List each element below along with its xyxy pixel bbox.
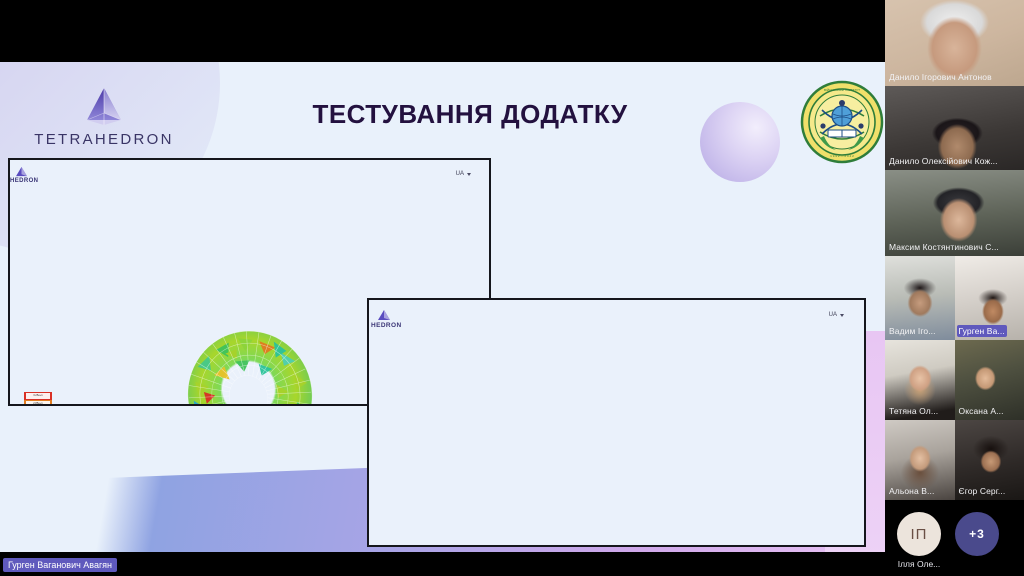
active-speaker-banner: Гурген Ваганович Авагян <box>3 558 117 572</box>
participant-row-avatars: ІП Ілля Оле... +3 <box>885 500 1024 569</box>
participant-tile-9[interactable]: ІП Ілля Оле... <box>897 512 941 569</box>
participant-name: Ілля Оле... <box>898 559 941 569</box>
app-screenshot-window-2: HEDRON UA 3.12e+12.73e+12.34e+11.95e+11.… <box>367 298 866 547</box>
participant-name: Оксана А... <box>957 405 1006 417</box>
participant-name: Тетяна Ол... <box>887 405 940 417</box>
participant-name: Данило Олексійович Кож... <box>887 155 1000 167</box>
participant-tile-0[interactable]: Данило Ігорович Антонов <box>885 0 1024 86</box>
tetrahedron-logo-icon <box>377 310 391 321</box>
overflow-badge: +3 <box>955 512 999 556</box>
participant-row-half-1: Вадим Іго... Гурген Ва... <box>885 256 1024 340</box>
participant-name: Альона В... <box>887 485 936 497</box>
slide-letterbox-top <box>0 31 885 62</box>
shared-slide: TETRAHEDRON ТЕСТУВАННЯ ДОДАТКУ <box>0 31 885 552</box>
meeting-screen: TETRAHEDRON ТЕСТУВАННЯ ДОДАТКУ <box>0 0 1024 576</box>
participant-row-half-2: Тетяна Ол... Оксана А... <box>885 340 1024 420</box>
page-title: ТЕСТУВАННЯ ДОДАТКУ <box>240 99 700 130</box>
participant-name: Максим Костянтинович С... <box>887 241 1001 253</box>
participant-name: Єгор Серг... <box>957 485 1008 497</box>
app1-language-value: UA <box>456 171 464 177</box>
legend-color-swatch: 3.25e+1 <box>24 392 52 400</box>
legend-value: 3.25e+1 <box>26 393 50 399</box>
participant-row-half-3: Альона В... Єгор Серг... <box>885 420 1024 500</box>
app1-color-legend: 3.25e+12.85e+12.45e+12.05e+11.60e+11.19e… <box>24 392 52 406</box>
tetrahedron-logo-icon <box>81 86 127 126</box>
participant-tile-3[interactable]: Вадим Іго... <box>885 256 955 340</box>
legend-value: 2.85e+1 <box>26 401 50 406</box>
decorative-sphere <box>700 102 780 182</box>
app2-language-selector[interactable]: UA <box>829 312 844 318</box>
overflow-participants-button[interactable]: +3 <box>955 512 999 556</box>
chevron-down-icon <box>840 314 844 317</box>
app1-logo-text: HEDRON <box>10 178 38 184</box>
university-emblem-icon: ВІЙСЬКОВИЙ ІНСТИТУТ 1 9 9 2 — 2 0 2 2 <box>800 80 884 164</box>
participant-tile-6[interactable]: Оксана А... <box>955 340 1024 420</box>
participant-name: Вадим Іго... <box>887 325 938 337</box>
slide-brand: TETRAHEDRON <box>14 86 194 148</box>
participant-name: Данило Ігорович Антонов <box>887 71 994 83</box>
app1-logo: HEDRON <box>10 167 38 184</box>
participant-name: Гурген Ва... <box>957 325 1007 337</box>
brand-name: TETRAHEDRON <box>14 131 194 148</box>
svg-text:1 9 9 2 — 2 0 2 2: 1 9 9 2 — 2 0 2 2 <box>830 154 854 158</box>
app2-logo: HEDRON <box>371 310 402 329</box>
torus-mesh-model[interactable] <box>170 328 330 406</box>
chevron-down-icon <box>467 173 471 176</box>
participant-tile-7[interactable]: Альона В... <box>885 420 955 500</box>
app1-language-selector[interactable]: UA <box>456 171 471 177</box>
legend-row: 2.85e+1 <box>24 400 52 406</box>
participant-tile-8[interactable]: Єгор Серг... <box>955 420 1024 500</box>
app2-logo-text: HEDRON <box>371 322 402 329</box>
participant-rail: Данило Ігорович Антонов Данило Олексійов… <box>885 0 1024 576</box>
avatar: ІП <box>897 512 941 556</box>
participant-tile-1[interactable]: Данило Олексійович Кож... <box>885 86 1024 170</box>
app2-language-value: UA <box>829 312 837 318</box>
participant-tile-2[interactable]: Максим Костянтинович С... <box>885 170 1024 256</box>
tetrahedron-logo-icon <box>15 167 28 177</box>
participant-tile-5[interactable]: Тетяна Ол... <box>885 340 955 420</box>
legend-color-swatch: 2.85e+1 <box>24 400 52 406</box>
participant-tile-4[interactable]: Гурген Ва... <box>955 256 1024 340</box>
svg-text:ВІЙСЬКОВИЙ ІНСТИТУТ: ВІЙСЬКОВИЙ ІНСТИТУТ <box>824 88 860 92</box>
legend-row: 3.25e+1 <box>24 392 52 400</box>
